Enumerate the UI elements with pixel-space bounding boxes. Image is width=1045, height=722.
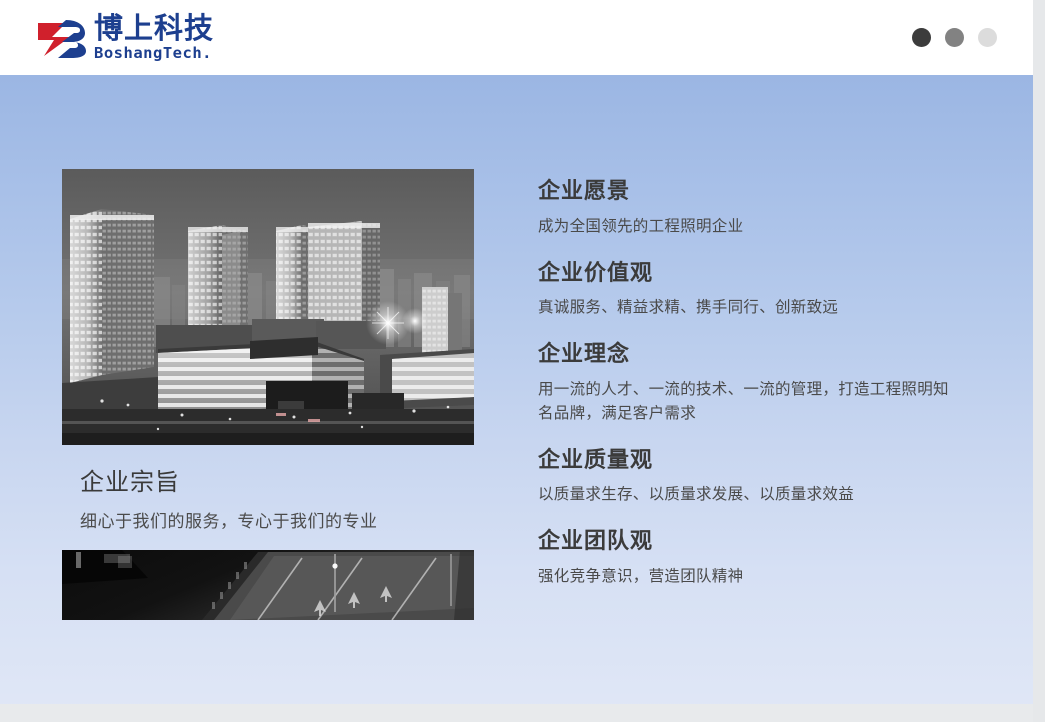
city-night-photo [62, 169, 474, 445]
value-text: 用一流的人才、一流的技术、一流的管理，打造工程照明知名品牌，满足客户需求 [538, 377, 958, 425]
value-block-values: 企业价值观 真诚服务、精益求精、携手同行、创新致远 [538, 260, 958, 320]
document-viewport: 博上科技 BoshangTech. [0, 0, 1033, 713]
road-night-photo [62, 550, 474, 620]
site-header: 博上科技 BoshangTech. [0, 0, 1033, 75]
page-bottom-edge [0, 704, 1033, 713]
value-title: 企业质量观 [538, 447, 958, 475]
carousel-dot-3[interactable] [978, 28, 997, 47]
value-text: 真诚服务、精益求精、携手同行、创新致远 [538, 295, 958, 319]
logo-name-en: BoshangTech. [94, 46, 214, 62]
logo-mark-icon [36, 16, 88, 60]
vertical-scrollbar[interactable] [1033, 0, 1045, 722]
left-column: 企业宗旨 细心于我们的服务，专心于我们的专业 [62, 169, 474, 620]
value-block-team: 企业团队观 强化竞争意识，营造团队精神 [538, 528, 958, 588]
logo-wordmark: 博上科技 BoshangTech. [94, 14, 214, 62]
value-text: 强化竞争意识，营造团队精神 [538, 564, 958, 588]
purpose-title: 企业宗旨 [80, 468, 474, 497]
value-title: 企业团队观 [538, 528, 958, 556]
value-block-philosophy: 企业理念 用一流的人才、一流的技术、一流的管理，打造工程照明知名品牌，满足客户需… [538, 341, 958, 425]
right-column: 企业愿景 成为全国领先的工程照明企业 企业价值观 真诚服务、精益求精、携手同行、… [538, 178, 958, 588]
value-text: 以质量求生存、以质量求发展、以质量求效益 [538, 482, 958, 506]
value-text: 成为全国领先的工程照明企业 [538, 214, 958, 238]
value-title: 企业理念 [538, 341, 958, 369]
purpose-block: 企业宗旨 细心于我们的服务，专心于我们的专业 [80, 468, 474, 532]
hero-section: 企业宗旨 细心于我们的服务，专心于我们的专业 [0, 75, 1033, 713]
site-logo[interactable]: 博上科技 BoshangTech. [36, 13, 214, 63]
value-block-quality: 企业质量观 以质量求生存、以质量求发展、以质量求效益 [538, 447, 958, 507]
carousel-dot-1[interactable] [912, 28, 931, 47]
value-title: 企业愿景 [538, 178, 958, 206]
value-block-vision: 企业愿景 成为全国领先的工程照明企业 [538, 178, 958, 238]
purpose-text: 细心于我们的服务，专心于我们的专业 [80, 507, 474, 532]
value-title: 企业价值观 [538, 260, 958, 288]
carousel-indicator-dots[interactable] [912, 28, 997, 47]
page-root: 博上科技 BoshangTech. [0, 0, 1045, 722]
carousel-dot-2[interactable] [945, 28, 964, 47]
logo-name-cn: 博上科技 [94, 14, 214, 43]
